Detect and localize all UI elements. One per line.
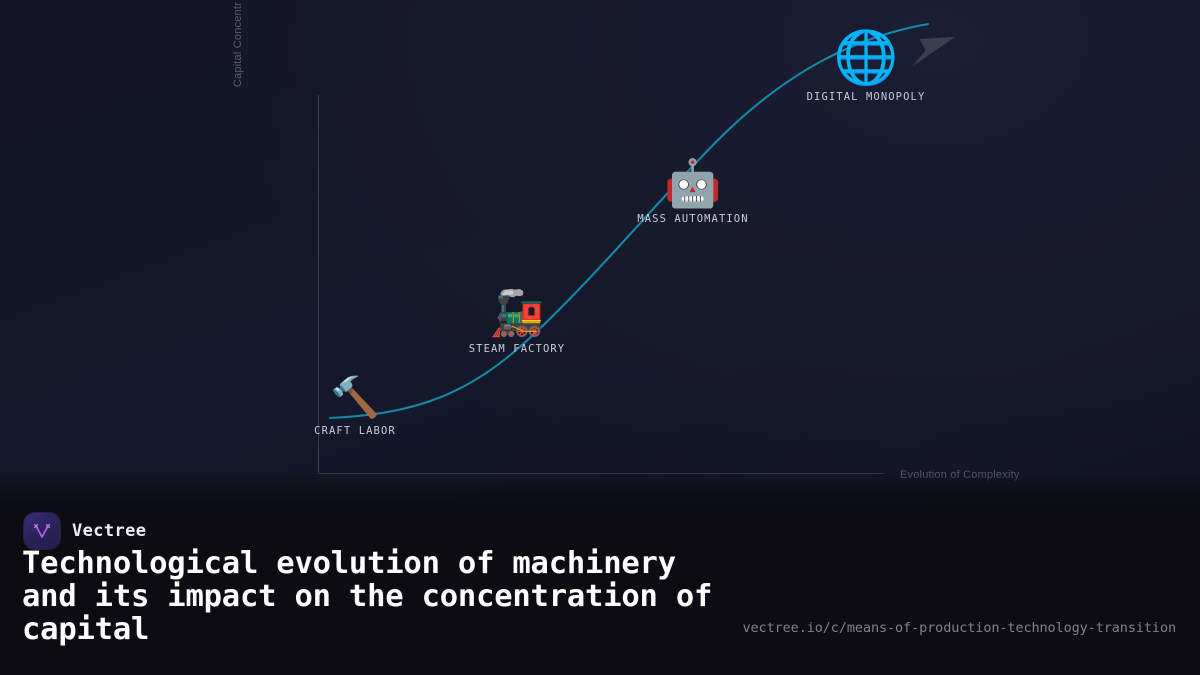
- chart-area: Capital Concentr Evolution of Complexity…: [0, 0, 1200, 500]
- slide-canvas: Capital Concentr Evolution of Complexity…: [0, 0, 1200, 675]
- source-url[interactable]: vectree.io/c/means-of-production-technol…: [743, 620, 1177, 636]
- milestone-label-craft-labor: CRAFT LABOR: [282, 425, 428, 437]
- milestone-mass-automation[interactable]: 🤖 MASS AUTOMATION: [618, 160, 768, 225]
- hammer-icon: 🔨: [282, 378, 428, 418]
- growth-curve-svg: [0, 0, 1200, 500]
- locomotive-icon: 🚂: [442, 292, 592, 336]
- milestone-digital-monopoly[interactable]: 🌐 DIGITAL MONOPOLY: [792, 32, 940, 103]
- vector-tree-glyph: [31, 520, 53, 542]
- milestone-steam-factory[interactable]: 🚂 STEAM FACTORY: [442, 292, 592, 355]
- milestone-label-steam-factory: STEAM FACTORY: [442, 343, 592, 355]
- milestone-label-digital-monopoly: DIGITAL MONOPOLY: [792, 91, 940, 103]
- robot-icon: 🤖: [618, 160, 768, 206]
- footer: Vectree Technological evolution of machi…: [0, 495, 1200, 675]
- brand-name: Vectree: [72, 521, 146, 541]
- milestone-craft-labor[interactable]: 🔨 CRAFT LABOR: [282, 378, 428, 437]
- milestone-label-mass-automation: MASS AUTOMATION: [618, 213, 768, 225]
- globe-meridians-icon: 🌐: [792, 32, 940, 84]
- vectree-logo-icon: [24, 513, 60, 549]
- brand-row[interactable]: Vectree: [24, 513, 146, 549]
- page-title: Technological evolution of machinery and…: [22, 548, 722, 647]
